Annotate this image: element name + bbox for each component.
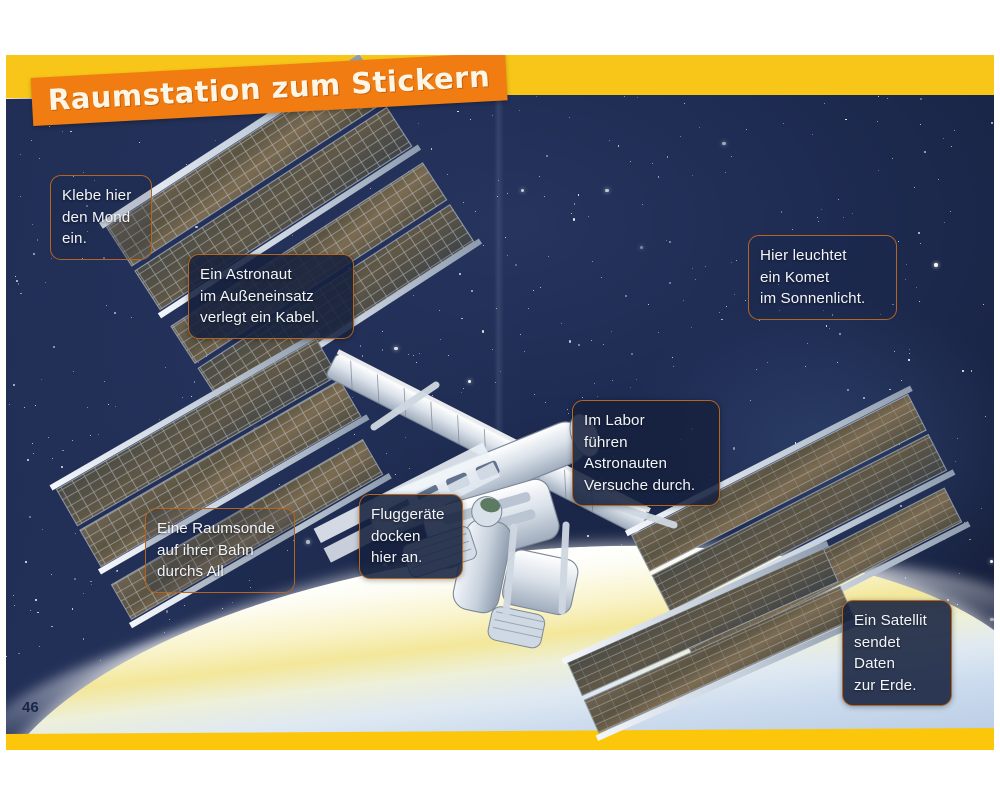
star (165, 367, 166, 368)
star (734, 294, 735, 295)
star (128, 546, 129, 547)
caption-line: Eine Raumsonde (157, 518, 283, 540)
star (338, 448, 339, 449)
star (363, 385, 364, 386)
star (470, 119, 471, 120)
star (475, 211, 476, 212)
star (985, 416, 986, 417)
star (463, 388, 464, 389)
star (805, 366, 806, 367)
star (532, 535, 533, 536)
star (382, 201, 383, 202)
star (667, 156, 668, 157)
star (573, 218, 575, 220)
star (131, 317, 132, 318)
star (20, 293, 21, 294)
star (859, 544, 860, 545)
star (461, 318, 462, 319)
star (152, 499, 153, 500)
star (37, 239, 38, 240)
star (319, 370, 321, 372)
star (795, 442, 796, 443)
star (268, 433, 271, 436)
star (408, 354, 409, 355)
caption-line: den Mond (62, 207, 140, 229)
star (13, 595, 14, 596)
star (303, 190, 304, 191)
caption-line: Hier leuchtet (760, 245, 885, 267)
star (182, 197, 183, 198)
caption-line: Fluggeräte (371, 504, 451, 526)
star (691, 327, 692, 328)
star (246, 245, 248, 247)
star (889, 481, 890, 482)
star (924, 151, 926, 153)
star (569, 117, 570, 118)
bottom-yellow-band (6, 734, 994, 750)
star (719, 312, 720, 313)
star (735, 543, 736, 544)
star (528, 308, 529, 309)
star (32, 224, 33, 225)
star (416, 362, 417, 363)
star (461, 392, 462, 393)
star (569, 340, 571, 342)
star (574, 203, 575, 204)
star (232, 150, 233, 151)
star (519, 110, 520, 111)
star (680, 136, 681, 137)
star (207, 215, 208, 216)
star (172, 196, 173, 197)
star (238, 225, 239, 226)
star (395, 474, 396, 475)
star (51, 258, 52, 259)
caption-line: ein Komet (760, 267, 885, 289)
star (692, 268, 693, 269)
star (31, 140, 32, 141)
star (352, 397, 353, 398)
star (722, 142, 725, 145)
star (908, 359, 909, 360)
star (507, 193, 508, 194)
star (916, 287, 917, 288)
star (894, 351, 895, 352)
caption-labor[interactable]: Im LaborführenAstronautenVersuche durch. (572, 400, 720, 506)
page-number: 46 (22, 699, 39, 716)
star (524, 495, 525, 496)
star (112, 475, 114, 477)
star (909, 353, 910, 354)
star (33, 453, 34, 454)
caption-line: Versuche durch. (584, 475, 708, 497)
star (186, 164, 187, 165)
caption-line: im Außeneinsatz (200, 286, 342, 308)
star (45, 282, 46, 283)
star (838, 199, 839, 200)
star (837, 362, 838, 363)
star (35, 405, 36, 406)
printed-spread: Raumstation zum Stickern Klebe hierden M… (6, 55, 994, 750)
star (286, 213, 287, 214)
star (18, 653, 19, 654)
star (950, 211, 951, 212)
star (877, 121, 878, 122)
star (418, 123, 419, 124)
star (673, 366, 674, 367)
star (900, 505, 902, 507)
star (507, 255, 508, 256)
star (370, 369, 371, 370)
star (163, 445, 164, 446)
star (909, 349, 910, 350)
star (492, 434, 493, 435)
star (458, 481, 459, 482)
star (530, 501, 531, 502)
star (419, 353, 420, 354)
star (839, 333, 841, 335)
star (110, 490, 111, 491)
star (362, 355, 363, 356)
star (433, 233, 434, 234)
star (898, 241, 899, 242)
star (981, 508, 982, 509)
star (139, 551, 140, 552)
star (943, 138, 944, 139)
star (370, 480, 371, 481)
star (601, 277, 602, 278)
star (41, 379, 42, 380)
star (53, 346, 55, 348)
star (591, 340, 592, 341)
star (524, 351, 525, 352)
star (864, 559, 865, 560)
star (745, 300, 746, 301)
star (72, 440, 73, 441)
star (272, 182, 273, 183)
star (24, 407, 25, 408)
star (781, 211, 782, 212)
star (116, 512, 117, 513)
star (195, 226, 197, 228)
caption-line: Astronauten (584, 453, 708, 475)
star (699, 127, 700, 128)
star (843, 217, 844, 218)
star (901, 380, 902, 381)
star (536, 96, 537, 97)
star (72, 608, 73, 609)
star (658, 332, 659, 333)
star (597, 396, 598, 397)
star (533, 290, 534, 291)
caption-mond[interactable]: Klebe hierden Mondein. (50, 175, 152, 260)
star (430, 400, 431, 401)
star (571, 213, 572, 214)
star (206, 356, 207, 357)
caption-komet[interactable]: Hier leuchtetein Kometim Sonnenlicht. (748, 235, 897, 320)
star (49, 126, 50, 127)
star (568, 413, 569, 414)
star (951, 146, 952, 147)
star (314, 179, 315, 180)
star (954, 130, 955, 131)
star (640, 246, 643, 249)
caption-raumsonde[interactable]: Eine Raumsondeauf ihrer Bahndurchs All (145, 508, 295, 593)
star (471, 290, 472, 291)
star (32, 443, 33, 444)
star (725, 172, 726, 173)
star (582, 397, 583, 398)
star (759, 320, 760, 321)
star (408, 171, 409, 172)
star (386, 453, 387, 454)
star (282, 469, 283, 470)
star (236, 185, 237, 186)
star (561, 323, 562, 324)
star (807, 498, 808, 499)
star (182, 397, 183, 398)
star (538, 478, 539, 479)
star (382, 349, 383, 350)
star (934, 263, 937, 266)
star (824, 103, 825, 104)
star (807, 343, 808, 344)
star (683, 300, 684, 301)
star (511, 518, 512, 519)
star (851, 432, 852, 433)
star (30, 610, 31, 611)
star (106, 305, 107, 306)
star (919, 301, 920, 302)
caption-line: im Sonnenlicht. (760, 288, 885, 310)
star (539, 176, 540, 177)
star (432, 263, 433, 264)
star (357, 266, 359, 268)
star (305, 353, 306, 354)
star (33, 253, 35, 255)
star (354, 434, 355, 435)
star (672, 357, 673, 358)
star (185, 431, 186, 432)
star (83, 172, 84, 173)
star (705, 266, 706, 267)
star (909, 425, 911, 427)
star (439, 310, 440, 311)
star (139, 142, 140, 143)
star (61, 466, 63, 468)
star (432, 395, 433, 396)
star (957, 438, 958, 439)
star (199, 236, 200, 237)
star (868, 499, 870, 501)
caption-line: ein. (62, 228, 140, 250)
star (822, 538, 823, 539)
star (356, 488, 358, 490)
star (783, 123, 784, 124)
star (90, 435, 91, 436)
star (306, 540, 309, 543)
star (940, 508, 941, 509)
star (624, 96, 625, 97)
star (642, 204, 643, 205)
star (630, 161, 631, 162)
star (42, 529, 43, 530)
star (652, 163, 653, 164)
star (463, 202, 464, 203)
star (48, 437, 49, 438)
star (906, 264, 907, 265)
star (587, 535, 589, 537)
caption-astronaut[interactable]: Ein Astronautim Außeneinsatzverlegt ein … (188, 254, 354, 339)
star (611, 331, 612, 332)
star (448, 355, 449, 356)
caption-line: führen (584, 432, 708, 454)
star (944, 222, 945, 223)
caption-line: zur Erde. (854, 675, 940, 697)
star (117, 549, 118, 550)
star (222, 608, 223, 609)
star (29, 516, 31, 518)
star (440, 339, 441, 340)
star (20, 196, 21, 197)
star (887, 98, 888, 99)
star (892, 560, 893, 561)
star (603, 344, 604, 345)
star (413, 295, 414, 296)
caption-fluggeraete[interactable]: Fluggerätedockenhier an. (359, 494, 463, 579)
star (215, 140, 216, 141)
star (232, 486, 233, 487)
star (87, 407, 88, 408)
star (625, 295, 627, 297)
star (704, 526, 705, 527)
star (869, 503, 870, 504)
star (460, 234, 461, 235)
caption-line: Klebe hier (62, 185, 140, 207)
star (658, 176, 659, 177)
star (91, 584, 92, 585)
star (228, 164, 229, 165)
star (183, 171, 184, 172)
star (114, 312, 116, 314)
star (878, 170, 879, 171)
star (189, 182, 190, 183)
star (13, 384, 15, 386)
star (666, 240, 667, 241)
caption-line: Ein Astronaut (200, 264, 342, 286)
star (544, 196, 545, 197)
star (736, 260, 737, 261)
star (630, 387, 631, 388)
caption-line: verlegt ein Kabel. (200, 307, 342, 329)
star (920, 243, 921, 244)
star (535, 439, 537, 441)
star (669, 241, 670, 242)
star (969, 539, 970, 540)
star (51, 626, 52, 627)
star (20, 154, 21, 155)
star (413, 355, 414, 356)
star (210, 342, 211, 343)
star (159, 419, 160, 420)
star (292, 235, 293, 236)
star (62, 450, 63, 451)
star (164, 314, 165, 315)
star (177, 430, 178, 431)
star (648, 304, 649, 305)
star (983, 304, 984, 305)
caption-line: auf ihrer Bahn (157, 540, 283, 562)
star (733, 447, 735, 449)
star (95, 484, 96, 485)
star (565, 495, 566, 496)
star (18, 283, 19, 284)
star (39, 646, 40, 647)
star (774, 545, 775, 546)
star (594, 383, 595, 384)
star (990, 560, 993, 563)
star (567, 409, 568, 410)
star (192, 422, 194, 424)
star (769, 498, 770, 499)
star (750, 400, 751, 401)
star (914, 187, 915, 188)
star (515, 264, 517, 266)
star (407, 211, 408, 212)
star (190, 249, 191, 250)
star (6, 656, 7, 657)
star (166, 610, 168, 612)
star (827, 551, 828, 552)
star (70, 131, 71, 132)
star (618, 145, 619, 146)
star (636, 379, 637, 380)
star (339, 418, 340, 419)
star (692, 175, 693, 176)
star (545, 402, 546, 403)
star (400, 148, 403, 151)
star (9, 404, 10, 405)
star (534, 394, 535, 395)
star (483, 245, 484, 246)
star (380, 483, 381, 484)
star (964, 522, 965, 523)
star (920, 124, 921, 125)
caption-line: docken (371, 526, 451, 548)
star (164, 632, 165, 633)
star (277, 397, 278, 398)
star (16, 280, 18, 282)
star (398, 389, 401, 392)
star (609, 140, 610, 141)
star (83, 638, 84, 639)
star (540, 287, 541, 288)
book-page: Raumstation zum Stickern Klebe hierden M… (0, 0, 1000, 800)
star (171, 186, 172, 187)
star (25, 561, 27, 563)
star (447, 174, 448, 175)
star (931, 525, 932, 526)
star (898, 405, 899, 406)
star (920, 98, 922, 100)
star (731, 156, 732, 157)
star (569, 438, 570, 439)
star (821, 209, 822, 210)
star (695, 279, 696, 280)
star (254, 428, 257, 431)
caption-satellit[interactable]: Ein SatellitsendetDatenzur Erde. (842, 600, 952, 706)
star (959, 573, 960, 574)
